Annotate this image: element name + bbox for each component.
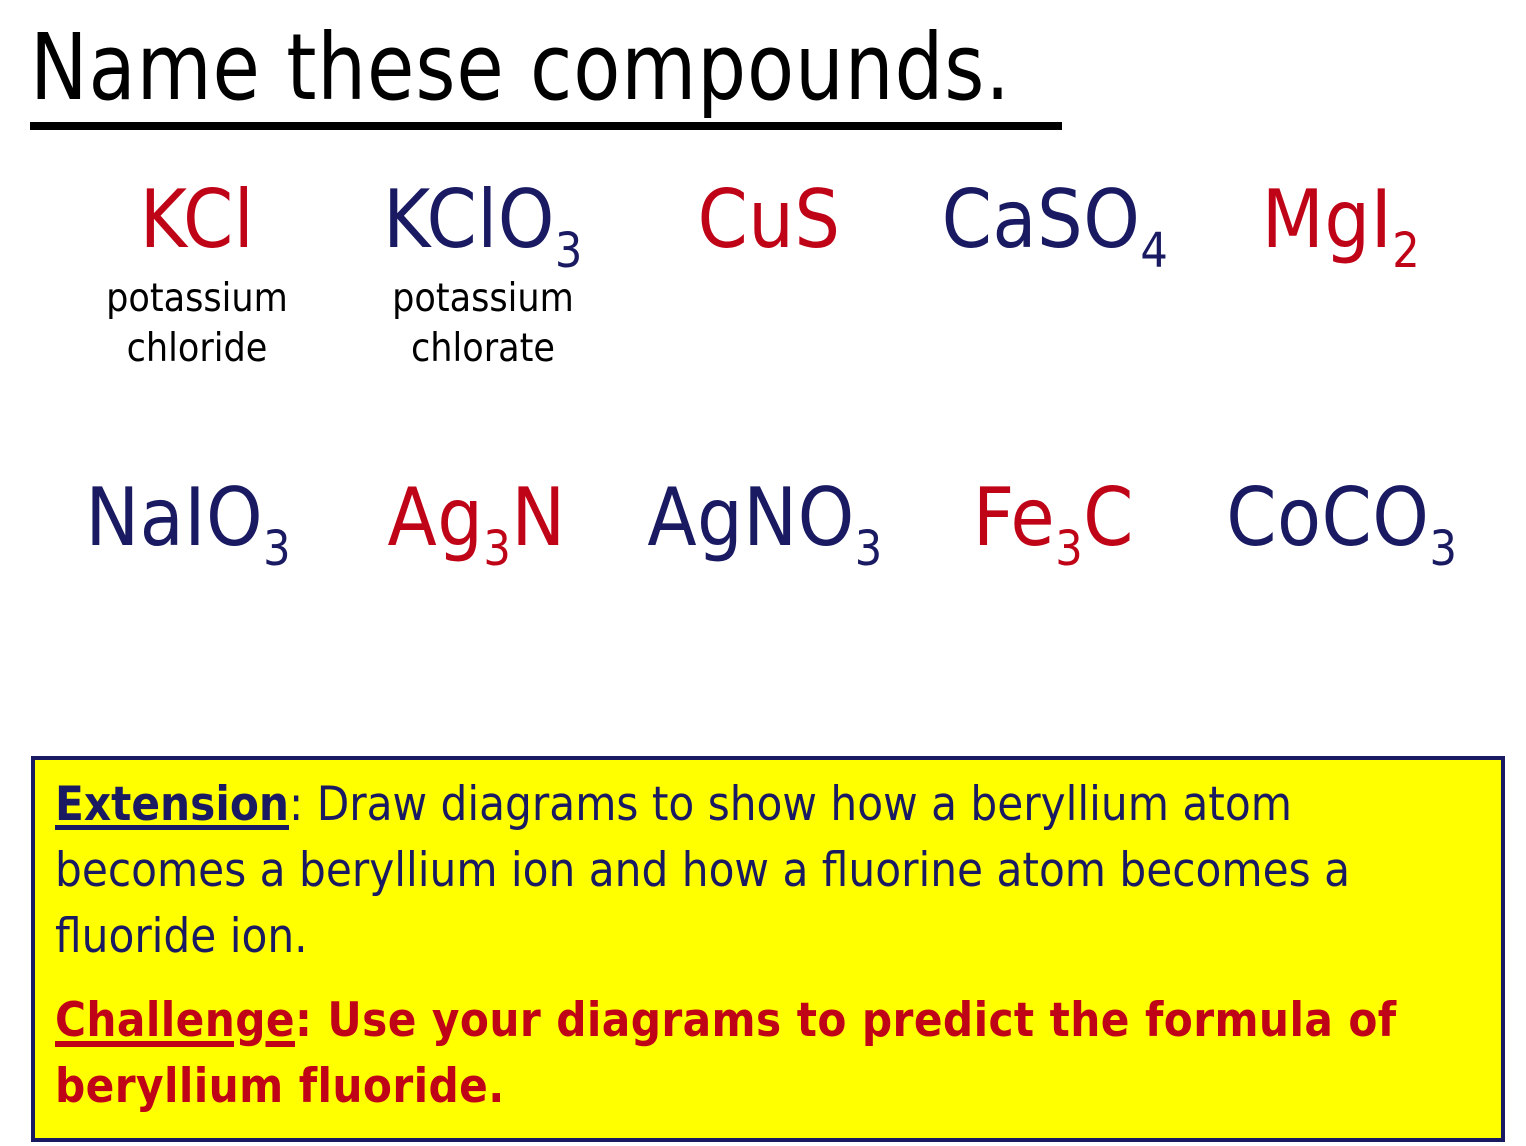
slide-canvas: Name these compounds. KCl potassium chlo…: [0, 0, 1526, 1146]
chemical-formula: CoCO3: [1226, 472, 1457, 564]
formula-cell: CaSO4: [912, 174, 1198, 274]
formula-cell: KCl potassium chloride: [54, 174, 340, 374]
formula-cell: NaIO3: [44, 472, 332, 572]
page-title-text: Name these compounds.: [30, 16, 1016, 120]
formula-row-2: NaIO3 Ag3N AgNO3 Fe3C CoCO3: [0, 472, 1526, 572]
chemical-formula: KClO3: [383, 174, 583, 266]
extension-challenge-box: Extension: Draw diagrams to show how a b…: [31, 756, 1505, 1142]
challenge-paragraph: Challenge: Use your diagrams to predict …: [55, 988, 1483, 1120]
chemical-formula: Ag3N: [388, 472, 566, 564]
extension-label: Extension: [55, 777, 289, 832]
formula-cell: CoCO3: [1198, 472, 1486, 572]
extension-paragraph: Extension: Draw diagrams to show how a b…: [55, 772, 1483, 970]
chemical-formula: NaIO3: [85, 472, 291, 564]
challenge-label: Challenge: [55, 993, 295, 1048]
compound-name-answer: potassium chlorate: [392, 274, 574, 374]
extension-colon: :: [289, 777, 303, 832]
compound-name-answer: potassium chloride: [106, 274, 288, 374]
page-title: Name these compounds.: [30, 16, 1090, 130]
challenge-colon: :: [295, 993, 312, 1048]
formula-cell: Fe3C: [909, 472, 1197, 572]
chemical-formula: Fe3C: [973, 472, 1134, 564]
title-underline-rule: [30, 122, 1062, 130]
chemical-formula: CaSO4: [942, 174, 1169, 266]
chemical-formula: AgNO3: [647, 472, 882, 564]
formula-cell: AgNO3: [621, 472, 909, 572]
formula-cell: KClO3 potassium chlorate: [340, 174, 626, 374]
formula-row-1: KCl potassium chloride KClO3 potassium c…: [0, 174, 1526, 374]
chemical-formula: MgI2: [1262, 174, 1421, 266]
chemical-formula: CuS: [697, 174, 840, 266]
formula-cell: Ag3N: [332, 472, 620, 572]
chemical-formula: KCl: [140, 174, 255, 266]
formula-cell: CuS: [626, 174, 912, 274]
formula-cell: MgI2: [1198, 174, 1484, 274]
